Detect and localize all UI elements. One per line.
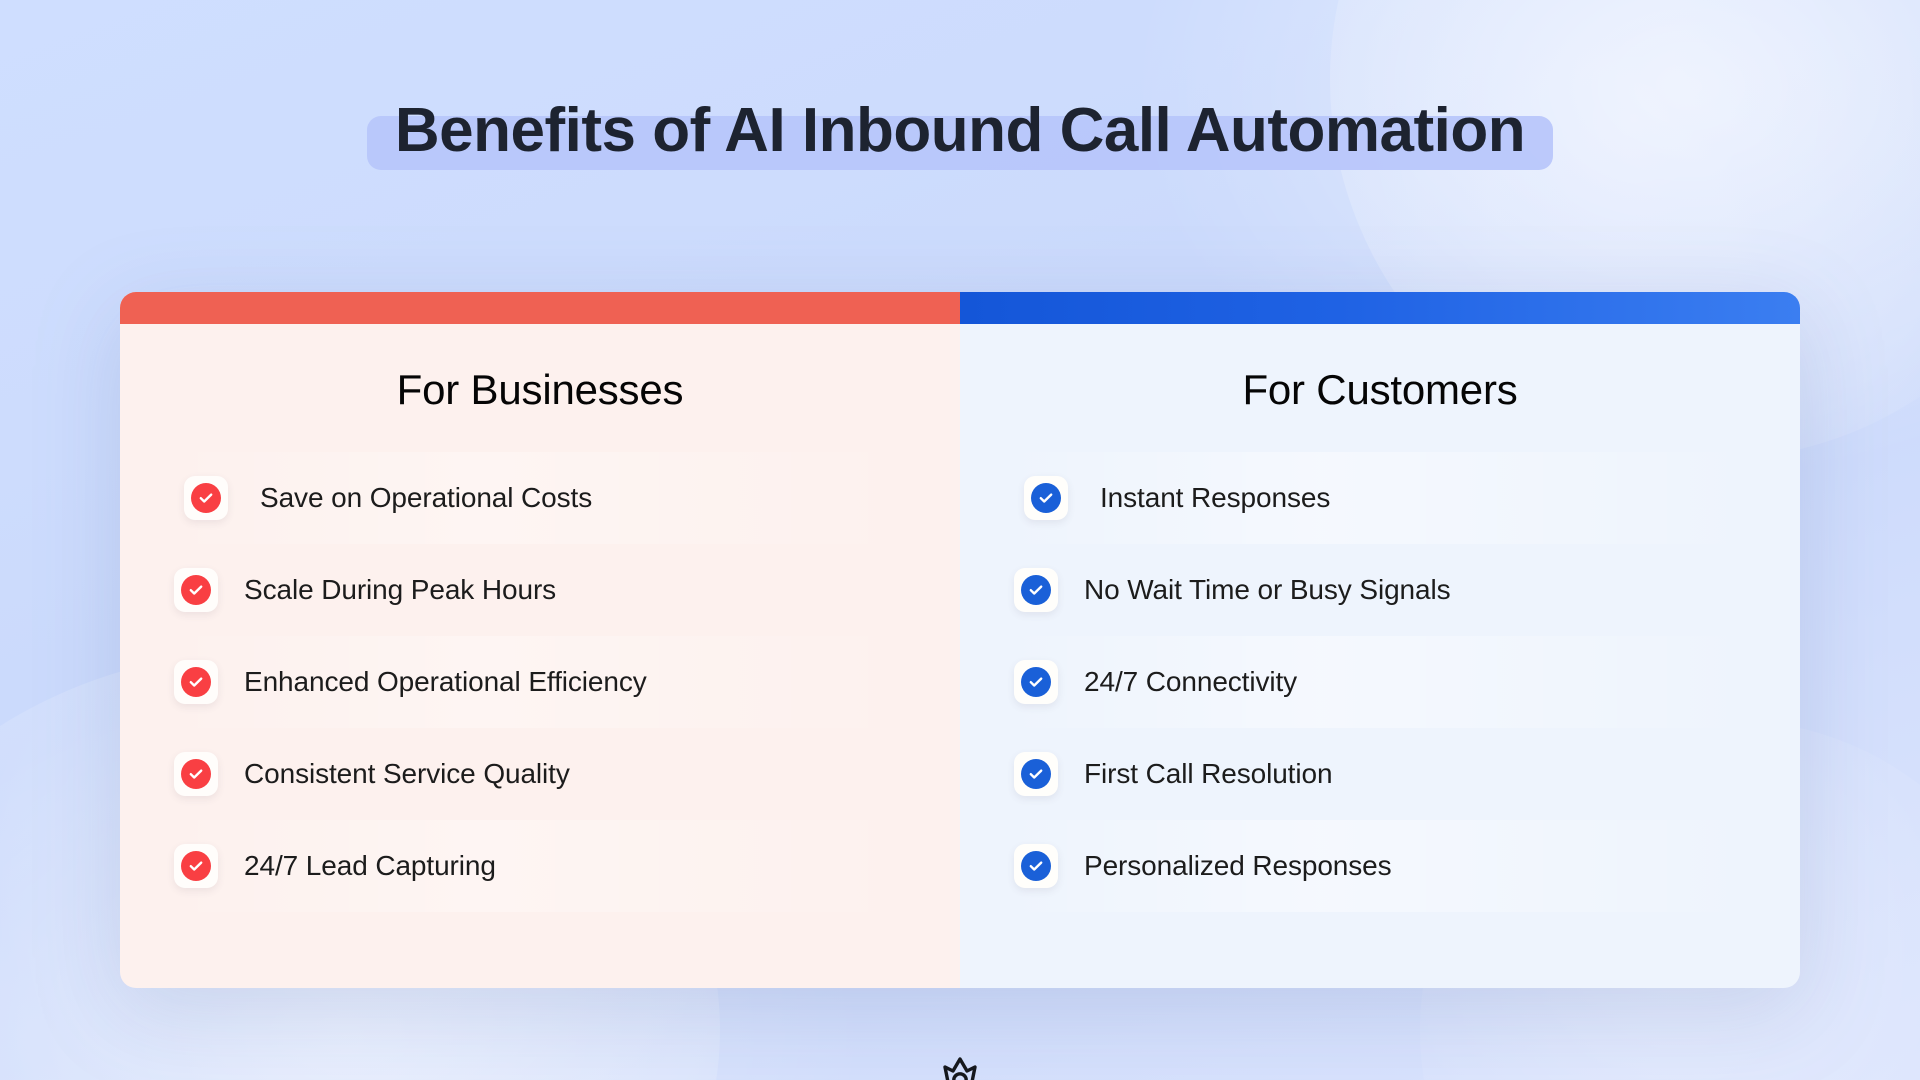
list-item[interactable]: First Call Resolution — [1000, 728, 1760, 820]
check-circle-icon — [181, 667, 211, 697]
benefits-cards-row: For Businesses Save on Operational Costs — [120, 292, 1800, 988]
check-tile — [1014, 844, 1058, 888]
check-circle-icon — [1021, 575, 1051, 605]
check-tile — [174, 568, 218, 612]
benefit-list-businesses: Save on Operational Costs Scale During P… — [120, 452, 960, 912]
heading-area: Benefits of AI Inbound Call Automation — [0, 76, 1920, 186]
check-circle-icon — [181, 851, 211, 881]
list-item[interactable]: Scale During Peak Hours — [160, 544, 920, 636]
list-item-label: Personalized Responses — [1084, 850, 1392, 882]
list-item-label: No Wait Time or Busy Signals — [1084, 574, 1451, 606]
list-item[interactable]: Personalized Responses — [1000, 820, 1760, 912]
list-item[interactable]: No Wait Time or Busy Signals — [1000, 544, 1760, 636]
check-tile — [174, 844, 218, 888]
list-item-label: Scale During Peak Hours — [244, 574, 556, 606]
card-for-businesses: For Businesses Save on Operational Costs — [120, 292, 960, 988]
check-tile — [1014, 660, 1058, 704]
check-tile — [1014, 752, 1058, 796]
heading-inner: Benefits of AI Inbound Call Automation — [395, 98, 1525, 165]
card-accent-bar-businesses — [120, 292, 960, 324]
page-title: Benefits of AI Inbound Call Automation — [395, 98, 1525, 165]
check-circle-icon — [181, 575, 211, 605]
card-accent-bar-customers — [960, 292, 1800, 324]
list-item[interactable]: 24/7 Lead Capturing — [160, 820, 920, 912]
card-for-customers: For Customers Instant Responses — [960, 292, 1800, 988]
list-item-label: 24/7 Lead Capturing — [244, 850, 496, 882]
brand-logo-mark-icon — [937, 1056, 983, 1080]
check-circle-icon — [1031, 483, 1061, 513]
list-item-label: Save on Operational Costs — [260, 482, 592, 514]
list-item[interactable]: Instant Responses — [1000, 452, 1760, 544]
list-item[interactable]: Consistent Service Quality — [160, 728, 920, 820]
list-item-label: Enhanced Operational Efficiency — [244, 666, 647, 698]
list-item-label: Consistent Service Quality — [244, 758, 570, 790]
check-tile — [1014, 568, 1058, 612]
list-item-label: First Call Resolution — [1084, 758, 1332, 790]
check-tile — [174, 660, 218, 704]
check-tile — [174, 752, 218, 796]
list-item[interactable]: 24/7 Connectivity — [1000, 636, 1760, 728]
check-circle-icon — [1021, 667, 1051, 697]
check-circle-icon — [181, 759, 211, 789]
card-title-businesses: For Businesses — [120, 366, 960, 414]
slide-canvas: Benefits of AI Inbound Call Automation F… — [0, 0, 1920, 1080]
list-item[interactable]: Save on Operational Costs — [160, 452, 920, 544]
card-title-customers: For Customers — [960, 366, 1800, 414]
list-item-label: 24/7 Connectivity — [1084, 666, 1297, 698]
check-tile — [184, 476, 228, 520]
list-item-label: Instant Responses — [1100, 482, 1330, 514]
check-circle-icon — [191, 483, 221, 513]
list-item[interactable]: Enhanced Operational Efficiency — [160, 636, 920, 728]
check-circle-icon — [1021, 851, 1051, 881]
check-circle-icon — [1021, 759, 1051, 789]
benefit-list-customers: Instant Responses No Wait Time or Busy S… — [960, 452, 1800, 912]
check-tile — [1024, 476, 1068, 520]
